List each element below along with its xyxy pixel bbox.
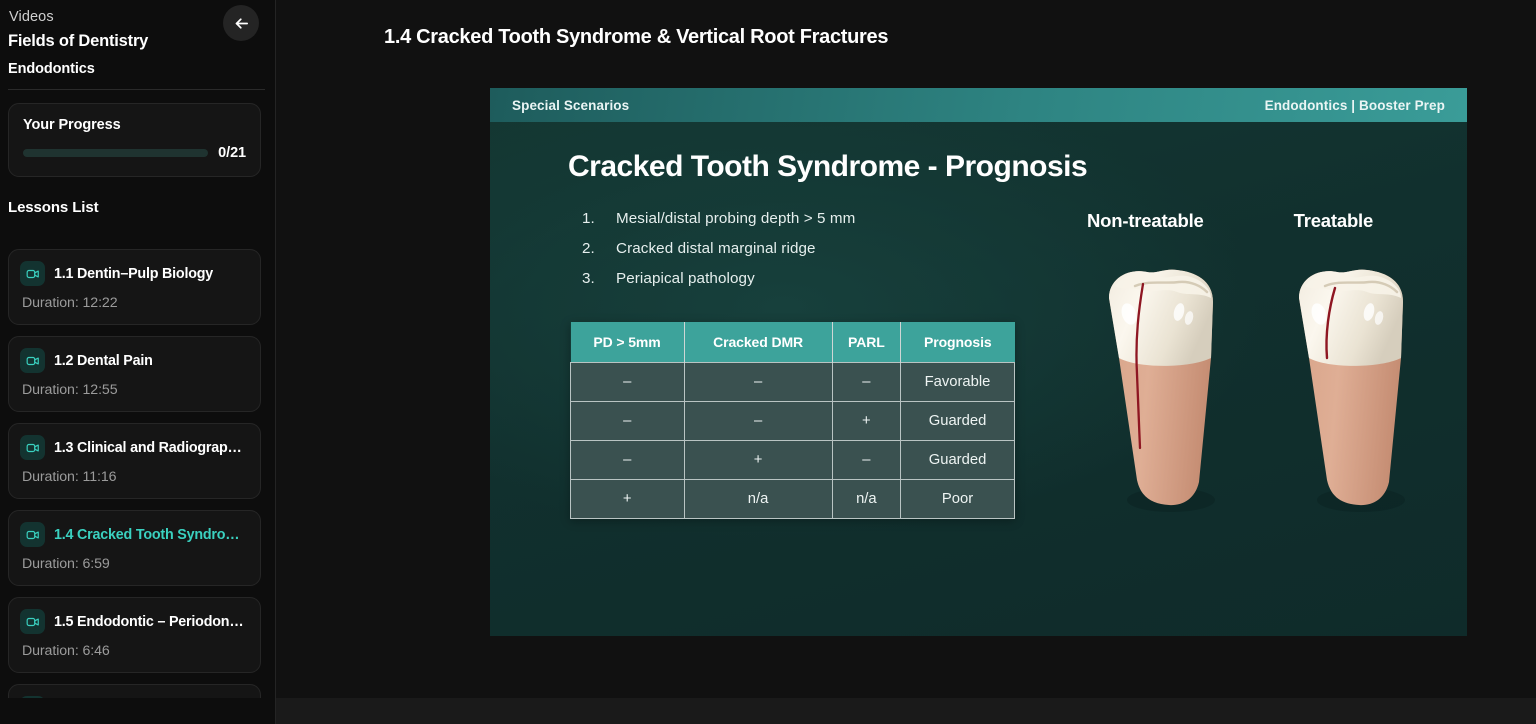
slide-topbar-left: Special Scenarios — [512, 98, 629, 113]
slide-body: Mesial/distal probing depth > 5 mm Crack… — [490, 184, 1467, 519]
sidebar-bottom-spacer — [0, 698, 276, 724]
slide-topbar-right: Endodontics | Booster Prep — [1265, 98, 1445, 113]
tooth-label-non-treatable: Non-treatable — [1087, 210, 1204, 232]
table-row: + n/a n/a Poor — [571, 480, 1015, 519]
lesson-title: 1.1 Dentin–Pulp Biology — [54, 266, 213, 282]
video-camera-icon — [20, 522, 45, 547]
cell-pd: – — [571, 363, 685, 402]
tooth-illustrations — [1045, 232, 1467, 518]
lesson-duration: Duration: 11:16 — [20, 460, 248, 485]
criteria-item: Periapical pathology — [570, 270, 1035, 300]
slide-topbar: Special Scenarios Endodontics | Booster … — [490, 88, 1467, 122]
cell-pd: + — [571, 480, 685, 519]
lesson-duration: Duration: 12:22 — [20, 286, 248, 311]
progress-card: Your Progress 0/21 — [8, 103, 261, 177]
cell-prognosis: Guarded — [901, 441, 1015, 480]
slide-title: Cracked Tooth Syndrome - Prognosis — [490, 122, 1467, 184]
tooth-treatable-icon — [1285, 262, 1417, 518]
list-item-active[interactable]: 1.4 Cracked Tooth Syndro… Duration: 6:59 — [8, 510, 261, 586]
slide-left-column: Mesial/distal probing depth > 5 mm Crack… — [490, 210, 1035, 519]
cell-parl: n/a — [832, 480, 900, 519]
lesson-duration: Duration: 12:55 — [20, 373, 248, 398]
column-header-parl: PARL — [832, 322, 900, 363]
cell-dmr: – — [684, 402, 832, 441]
column-header-prognosis: Prognosis — [901, 322, 1015, 363]
progress-count: 0/21 — [218, 145, 246, 161]
lesson-title: 1.4 Cracked Tooth Syndro… — [54, 527, 239, 543]
table-header-row: PD > 5mm Cracked DMR PARL Prognosis — [571, 322, 1015, 363]
cell-pd: – — [571, 441, 685, 480]
progress-bar[interactable] — [23, 149, 208, 157]
progress-row: 0/21 — [23, 145, 246, 161]
lesson-top: 1.5 Endodontic – Periodon… — [20, 609, 248, 634]
sidebar-title: Fields of Dentistry — [8, 32, 265, 61]
cell-prognosis: Poor — [901, 480, 1015, 519]
lessons-list-header: Lessons List — [0, 177, 275, 227]
video-camera-icon — [20, 348, 45, 373]
cell-parl: + — [832, 402, 900, 441]
back-button[interactable] — [223, 5, 259, 41]
video-camera-icon — [20, 261, 45, 286]
column-header-dmr: Cracked DMR — [684, 322, 832, 363]
tooth-labels: Non-treatable Treatable — [1045, 210, 1467, 232]
criteria-list: Mesial/distal probing depth > 5 mm Crack… — [570, 210, 1035, 300]
cell-dmr: n/a — [684, 480, 832, 519]
prognosis-table: PD > 5mm Cracked DMR PARL Prognosis – – … — [570, 322, 1015, 519]
lesson-top: 1.4 Cracked Tooth Syndro… — [20, 522, 248, 547]
progress-label: Your Progress — [23, 117, 246, 133]
video-camera-icon — [20, 435, 45, 460]
lesson-title: 1.2 Dental Pain — [54, 353, 153, 369]
lesson-top: 1.2 Dental Pain — [20, 348, 248, 373]
slide-viewer[interactable]: Special Scenarios Endodontics | Booster … — [490, 88, 1467, 636]
lesson-top: 1.1 Dentin–Pulp Biology — [20, 261, 248, 286]
criteria-item: Mesial/distal probing depth > 5 mm — [570, 210, 1035, 240]
cell-pd: – — [571, 402, 685, 441]
table-row: – – – Favorable — [571, 363, 1015, 402]
video-camera-icon — [20, 609, 45, 634]
lessons-list[interactable]: 1.1 Dentin–Pulp Biology Duration: 12:22 … — [0, 249, 275, 724]
cell-parl: – — [832, 363, 900, 402]
sidebar-header: Videos Fields of Dentistry Endodontics — [0, 0, 275, 89]
lesson-duration: Duration: 6:46 — [20, 634, 248, 659]
app-root: Videos Fields of Dentistry Endodontics Y… — [0, 0, 1536, 724]
tooth-non-treatable-icon — [1095, 262, 1227, 518]
cell-dmr: – — [684, 363, 832, 402]
tooth-label-treatable: Treatable — [1294, 210, 1373, 232]
criteria-item: Cracked distal marginal ridge — [570, 240, 1035, 270]
lesson-title: 1.3 Clinical and Radiograp… — [54, 440, 242, 456]
sidebar-divider — [8, 89, 265, 90]
table-row: – – + Guarded — [571, 402, 1015, 441]
sidebar-subtitle: Endodontics — [8, 61, 265, 89]
cell-dmr: + — [684, 441, 832, 480]
page-title: 1.4 Cracked Tooth Syndrome & Vertical Ro… — [276, 0, 1536, 49]
list-item[interactable]: 1.2 Dental Pain Duration: 12:55 — [8, 336, 261, 412]
arrow-left-icon — [233, 15, 250, 32]
column-header-pd: PD > 5mm — [571, 322, 685, 363]
cell-parl: – — [832, 441, 900, 480]
cell-prognosis: Favorable — [901, 363, 1015, 402]
lesson-title: 1.5 Endodontic – Periodon… — [54, 614, 243, 630]
list-item[interactable]: 1.5 Endodontic – Periodon… Duration: 6:4… — [8, 597, 261, 673]
sidebar: Videos Fields of Dentistry Endodontics Y… — [0, 0, 276, 724]
lesson-top: 1.3 Clinical and Radiograp… — [20, 435, 248, 460]
lesson-duration: Duration: 6:59 — [20, 547, 248, 572]
table-row: – + – Guarded — [571, 441, 1015, 480]
slide-right-column: Non-treatable Treatable — [1035, 210, 1467, 519]
main-content: 1.4 Cracked Tooth Syndrome & Vertical Ro… — [276, 0, 1536, 724]
main-bottom-bar — [276, 698, 1536, 724]
list-item[interactable]: 1.3 Clinical and Radiograp… Duration: 11… — [8, 423, 261, 499]
list-item[interactable]: 1.1 Dentin–Pulp Biology Duration: 12:22 — [8, 249, 261, 325]
cell-prognosis: Guarded — [901, 402, 1015, 441]
